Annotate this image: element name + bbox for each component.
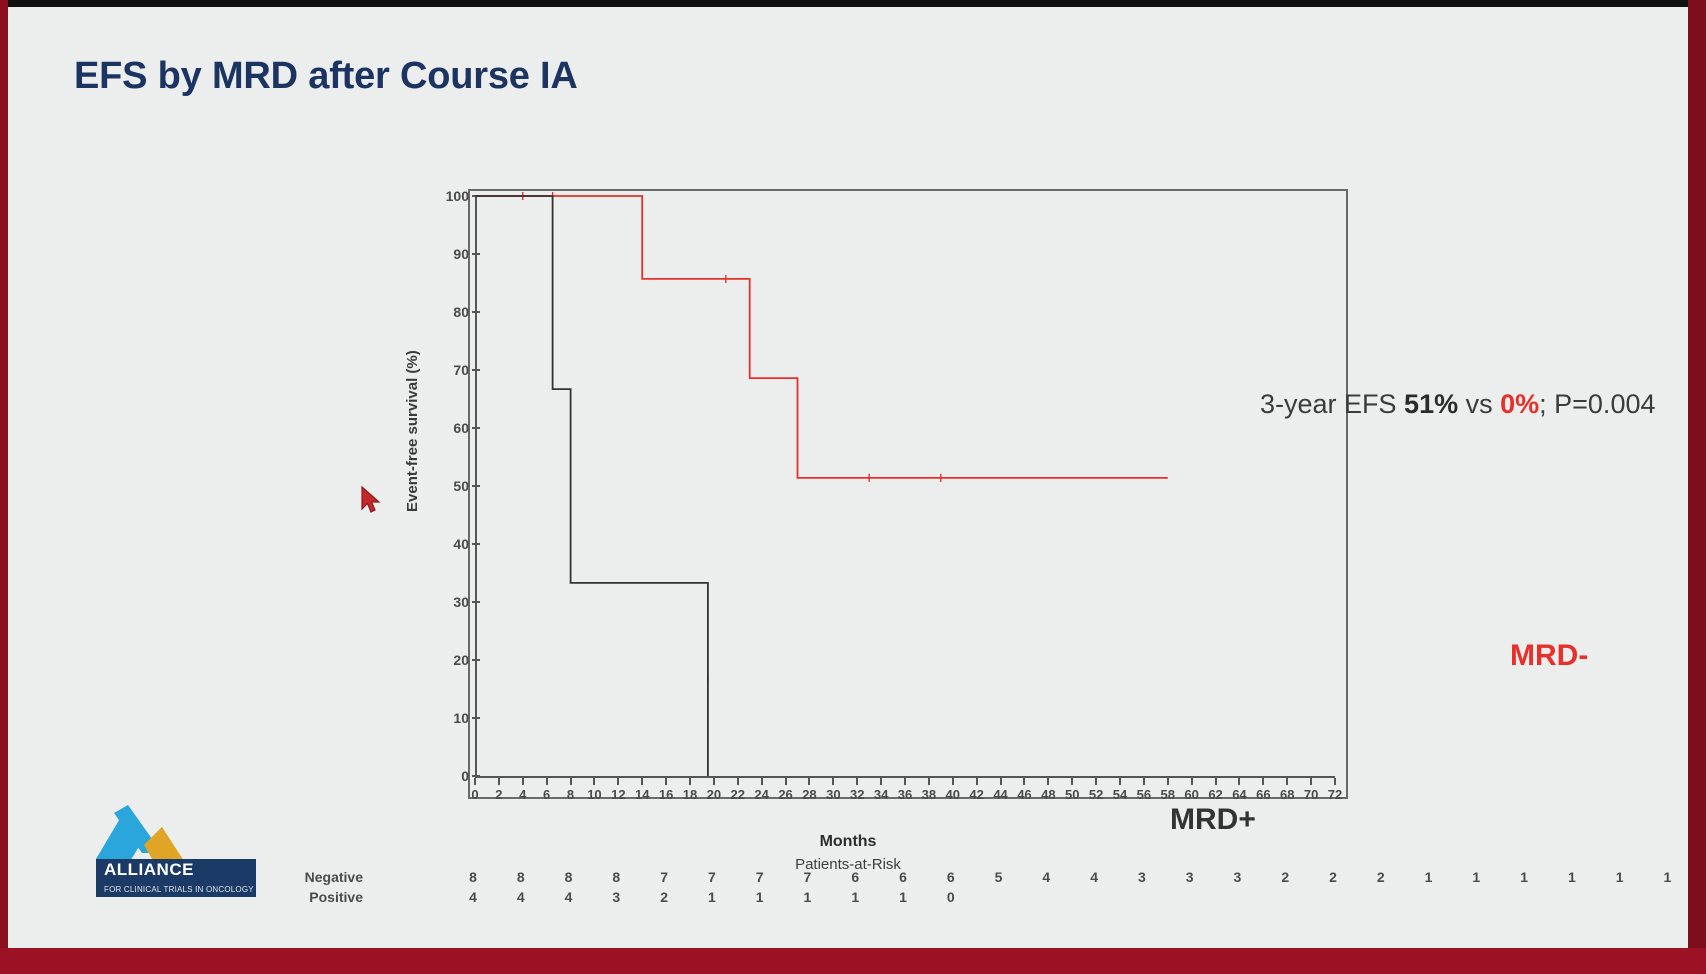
x-tick-label: 20	[707, 787, 721, 802]
y-tick-mark	[472, 195, 480, 197]
x-tick-label: 22	[731, 787, 745, 802]
y-tick-label: 40	[453, 536, 469, 552]
risk-value: 3	[1186, 869, 1194, 885]
y-tick-label: 100	[446, 188, 469, 204]
x-tick-label: 0	[471, 787, 478, 802]
risk-value: 4	[565, 889, 573, 905]
x-tick-mark	[928, 778, 930, 785]
curve-label-mrd-positive: MRD+	[1170, 803, 1256, 837]
risk-value: 7	[804, 869, 812, 885]
video-bottom-bar	[0, 948, 1706, 974]
x-tick-mark	[1167, 778, 1169, 785]
kaplan-meier-chart: 0102030405060708090100 02468101214161820…	[468, 189, 1348, 799]
x-tick-label: 42	[969, 787, 983, 802]
logo-name: ALLIANCE	[104, 860, 194, 880]
x-tick-label: 34	[874, 787, 888, 802]
x-tick-mark	[641, 778, 643, 785]
y-tick-mark	[472, 659, 480, 661]
x-tick-label: 26	[778, 787, 792, 802]
x-tick-mark	[880, 778, 882, 785]
curve-label-mrd-negative: MRD-	[1510, 639, 1588, 673]
y-tick-mark	[472, 485, 480, 487]
x-tick-label: 54	[1113, 787, 1127, 802]
risk-value: 4	[517, 889, 525, 905]
y-tick-mark	[472, 311, 480, 313]
x-tick-label: 40	[946, 787, 960, 802]
x-tick-mark	[1334, 778, 1336, 785]
risk-value: 8	[517, 869, 525, 885]
y-tick-mark	[472, 775, 480, 777]
y-tick-mark	[472, 601, 480, 603]
x-tick-mark	[1262, 778, 1264, 785]
risk-value: 3	[1234, 869, 1242, 885]
annotation-middle: vs	[1458, 389, 1500, 419]
x-tick-mark	[1310, 778, 1312, 785]
x-tick-label: 30	[826, 787, 840, 802]
risk-value: 3	[612, 889, 620, 905]
risk-value: 1	[851, 889, 859, 905]
x-tick-mark	[1023, 778, 1025, 785]
presentation-slide: EFS by MRD after Course IA 0102030405060…	[8, 7, 1688, 948]
y-tick-mark	[472, 427, 480, 429]
x-tick-label: 16	[659, 787, 673, 802]
risk-value: 7	[756, 869, 764, 885]
x-tick-mark	[665, 778, 667, 785]
survival-curve-mrd	[475, 196, 708, 776]
x-tick-label: 68	[1280, 787, 1294, 802]
risk-value: 8	[565, 869, 573, 885]
risk-value: 2	[660, 889, 668, 905]
x-tick-mark	[785, 778, 787, 785]
risk-value: 1	[804, 889, 812, 905]
alliance-logo: ALLIANCE FOR CLINICAL TRIALS IN ONCOLOGY	[66, 797, 266, 897]
risk-value: 3	[1138, 869, 1146, 885]
x-tick-mark	[808, 778, 810, 785]
survival-curves	[470, 191, 1350, 801]
risk-value: 6	[899, 869, 907, 885]
x-tick-label: 4	[519, 787, 526, 802]
x-tick-label: 72	[1328, 787, 1342, 802]
x-tick-label: 46	[1017, 787, 1031, 802]
x-tick-label: 58	[1161, 787, 1175, 802]
risk-value: 8	[612, 869, 620, 885]
x-tick-mark	[498, 778, 500, 785]
y-tick-label: 60	[453, 420, 469, 436]
video-left-bar	[0, 0, 8, 974]
risk-value: 2	[1329, 869, 1337, 885]
risk-value: 4	[1090, 869, 1098, 885]
x-tick-label: 10	[587, 787, 601, 802]
risk-value: 1	[1472, 869, 1480, 885]
x-tick-mark	[617, 778, 619, 785]
y-tick-label: 10	[453, 710, 469, 726]
x-tick-mark	[856, 778, 858, 785]
x-tick-label: 6	[543, 787, 550, 802]
x-tick-mark	[570, 778, 572, 785]
x-tick-mark	[522, 778, 524, 785]
risk-value: 6	[851, 869, 859, 885]
x-tick-mark	[976, 778, 978, 785]
x-tick-mark	[1191, 778, 1193, 785]
y-tick-mark	[472, 369, 480, 371]
video-top-bar	[0, 0, 1706, 7]
x-tick-label: 18	[683, 787, 697, 802]
y-tick-label: 30	[453, 594, 469, 610]
x-tick-mark	[1119, 778, 1121, 785]
risk-value: 5	[995, 869, 1003, 885]
x-tick-mark	[761, 778, 763, 785]
x-tick-label: 50	[1065, 787, 1079, 802]
x-tick-label: 24	[754, 787, 768, 802]
risk-value: 1	[1616, 869, 1624, 885]
annotation-value-negative: 51%	[1404, 389, 1458, 419]
x-tick-mark	[1095, 778, 1097, 785]
x-tick-mark	[593, 778, 595, 785]
x-tick-mark	[1143, 778, 1145, 785]
risk-value: 4	[469, 889, 477, 905]
mouse-pointer-icon	[360, 485, 386, 520]
y-tick-label: 50	[453, 478, 469, 494]
x-tick-mark	[1047, 778, 1049, 785]
x-tick-label: 70	[1304, 787, 1318, 802]
x-tick-mark	[1286, 778, 1288, 785]
x-tick-label: 60	[1184, 787, 1198, 802]
risk-row-label: Negative	[273, 869, 363, 885]
risk-value: 1	[1520, 869, 1528, 885]
x-tick-label: 56	[1137, 787, 1151, 802]
x-tick-label: 64	[1232, 787, 1246, 802]
logo-tagline: FOR CLINICAL TRIALS IN ONCOLOGY	[104, 885, 254, 894]
x-tick-label: 36	[898, 787, 912, 802]
x-tick-mark	[1071, 778, 1073, 785]
x-tick-mark	[546, 778, 548, 785]
risk-value: 1	[1425, 869, 1433, 885]
x-tick-mark	[1000, 778, 1002, 785]
y-axis-label: Event-free survival (%)	[404, 350, 421, 512]
risk-value: 6	[947, 869, 955, 885]
chart-plot-region: 0102030405060708090100 02468101214161820…	[470, 191, 1346, 797]
y-tick-label: 70	[453, 362, 469, 378]
risk-value: 1	[1568, 869, 1576, 885]
x-tick-label: 62	[1208, 787, 1222, 802]
risk-value: 8	[469, 869, 477, 885]
page-title: EFS by MRD after Course IA	[74, 55, 578, 98]
y-tick-label: 90	[453, 246, 469, 262]
x-tick-mark	[689, 778, 691, 785]
risk-row-label: Positive	[273, 889, 363, 905]
x-tick-mark	[904, 778, 906, 785]
x-tick-label: 38	[922, 787, 936, 802]
x-tick-mark	[1215, 778, 1217, 785]
risk-value: 1	[756, 889, 764, 905]
x-tick-label: 66	[1256, 787, 1270, 802]
x-tick-mark	[1238, 778, 1240, 785]
x-tick-label: 52	[1089, 787, 1103, 802]
annotation-prefix: 3-year EFS	[1260, 389, 1404, 419]
x-tick-mark	[737, 778, 739, 785]
annotation-suffix: ; P=0.004	[1539, 389, 1655, 419]
y-tick-label: 80	[453, 304, 469, 320]
risk-value: 4	[1042, 869, 1050, 885]
annotation-value-positive: 0%	[1500, 389, 1539, 419]
risk-value: 0	[947, 889, 955, 905]
video-frame: EFS by MRD after Course IA 0102030405060…	[0, 0, 1706, 974]
x-tick-label: 14	[635, 787, 649, 802]
x-tick-label: 48	[1041, 787, 1055, 802]
risk-value: 2	[1377, 869, 1385, 885]
y-tick-mark	[472, 543, 480, 545]
x-tick-label: 32	[850, 787, 864, 802]
efs-annotation: 3-year EFS 51% vs 0%; P=0.004	[1260, 389, 1656, 420]
risk-value: 7	[660, 869, 668, 885]
x-tick-label: 44	[993, 787, 1007, 802]
y-tick-label: 20	[453, 652, 469, 668]
y-tick-mark	[472, 253, 480, 255]
x-tick-mark	[713, 778, 715, 785]
x-tick-label: 2	[495, 787, 502, 802]
video-right-bar	[1688, 0, 1706, 974]
risk-value: 2	[1281, 869, 1289, 885]
survival-curve-mrd	[475, 196, 1168, 478]
x-tick-mark	[952, 778, 954, 785]
risk-value: 7	[708, 869, 716, 885]
y-tick-label: 0	[461, 768, 469, 784]
y-tick-mark	[472, 717, 480, 719]
risk-value: 1	[899, 889, 907, 905]
risk-value: 1	[708, 889, 716, 905]
x-tick-label: 8	[567, 787, 574, 802]
x-tick-label: 12	[611, 787, 625, 802]
risk-value: 1	[1664, 869, 1672, 885]
x-tick-mark	[832, 778, 834, 785]
x-tick-label: 28	[802, 787, 816, 802]
x-tick-mark	[474, 778, 476, 785]
